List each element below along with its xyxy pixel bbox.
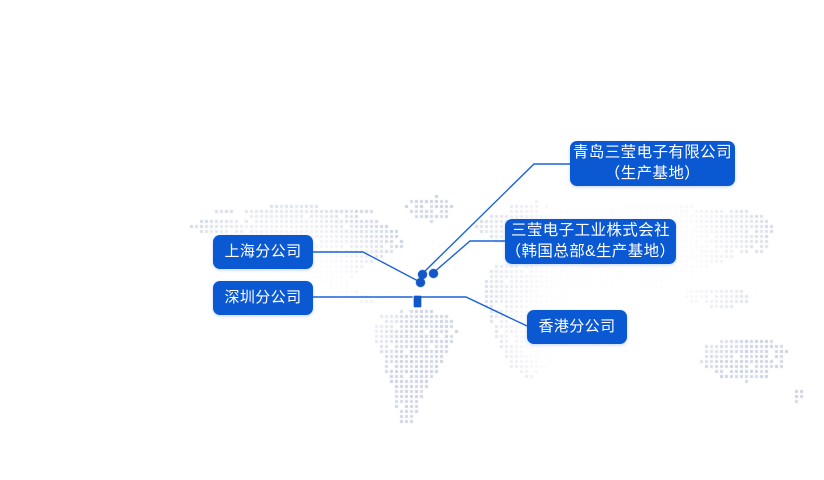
location-label-text: （韩国总部&生产基地） [506,242,676,262]
location-label-qingdao[interactable]: 青岛三莹电子有限公司（生产基地） [570,141,735,186]
world-map-infographic: 青岛三莹电子有限公司（生产基地）三莹电子工业株式会社（韩国总部&生产基地）上海分… [0,0,824,480]
location-label-shenzhen[interactable]: 深圳分公司 [213,281,313,315]
location-label-text: 香港分公司 [538,317,615,337]
map-marker-shanghai[interactable] [416,278,425,287]
location-label-text: 上海分公司 [224,242,301,262]
map-dot-canvas [0,0,824,480]
location-label-hongkong[interactable]: 香港分公司 [527,310,627,344]
location-label-text: 深圳分公司 [224,288,301,308]
location-label-text: 三莹电子工业株式会社 [511,221,670,241]
location-label-text: 青岛三莹电子有限公司 [573,143,732,163]
location-label-shanghai[interactable]: 上海分公司 [213,235,313,269]
dotted-world-map [0,0,824,480]
map-marker-korea-hq[interactable] [429,269,438,278]
location-label-korea-hq[interactable]: 三莹电子工业株式会社（韩国总部&生产基地） [505,219,676,264]
location-label-text: （生产基地） [605,164,700,184]
map-marker-hongkong[interactable] [414,296,421,307]
